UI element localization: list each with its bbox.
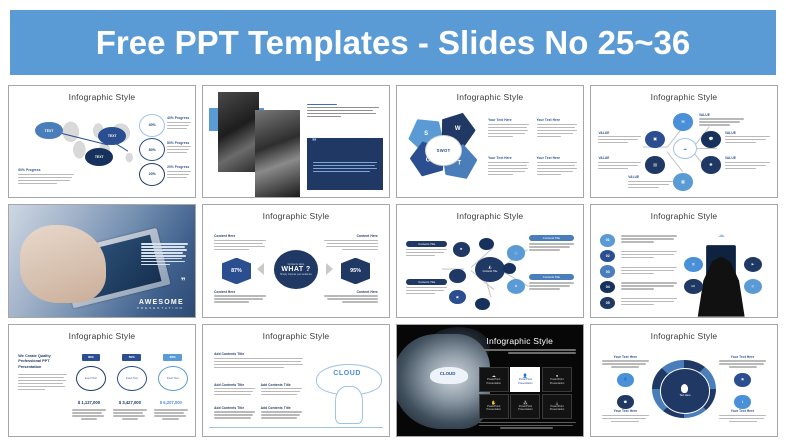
tile-1[interactable]: ☁ PowerPoint Presentation (479, 367, 509, 392)
laptop-hands-photo (218, 92, 259, 172)
text-heading: Your Text Here (537, 156, 578, 160)
node-heading: VALUE (628, 175, 673, 179)
what-text-3: Content Here (214, 290, 266, 304)
slide-9-headline-group: We Create Quality Professional PPT Prese… (18, 354, 66, 392)
slide-9-headline: We Create Quality Professional PPT Prese… (18, 354, 66, 371)
network-node-laptop-icon[interactable]: ▣ (449, 290, 466, 304)
network-node-dot[interactable] (479, 238, 494, 250)
list-text-5 (621, 298, 677, 307)
bubble-hd-icon[interactable]: HD (684, 279, 703, 295)
slide-11-footer (479, 422, 576, 431)
gauge-1: Insert Text (76, 366, 106, 391)
network-node-gear-icon[interactable]: ⚙ (507, 279, 526, 295)
node-text-3: VALUE (725, 131, 770, 145)
slide-thumbnail-2[interactable]: ❝ (202, 85, 390, 198)
slide-thumbnail-12[interactable]: Infographic Style Text Here 👤 💬 ▣ ℹ Your… (590, 324, 778, 437)
tile-2-active[interactable]: 👤 PowerPoint Presentation (510, 367, 540, 392)
gauge-2: Insert Text (117, 366, 147, 391)
text-heading: Your Text Here (488, 118, 529, 122)
slide-1-title: Infographic Style (9, 92, 195, 102)
list-text-3 (621, 267, 677, 276)
badge-value: 87% (231, 268, 242, 274)
progress-heading: 80% Progress (167, 141, 191, 145)
quote-box: ❝ (307, 138, 383, 189)
node-text-2: VALUE (598, 156, 641, 170)
badge-value: 95% (350, 268, 361, 274)
what-eyebrow: Contents Here (288, 263, 305, 266)
hand-pointer-icon[interactable] (335, 386, 363, 424)
banner-title: Free PPT Templates - Slides No 25~36 (96, 24, 691, 62)
gauge-label: Insert Text (126, 377, 138, 380)
node-monitor-icon[interactable]: ▣ (645, 131, 665, 149)
node-chat-icon[interactable]: 💬 (701, 131, 721, 149)
list-number-05: 05 (600, 297, 615, 309)
list-number-01: 01 (600, 234, 615, 246)
gear-text-1: Your Text Here (602, 355, 649, 369)
lead-heading: Add Contents Title (214, 352, 303, 356)
network-node-settings-icon[interactable]: ✺ (453, 242, 470, 256)
map-pin-2[interactable]: TEXT (98, 127, 126, 145)
node-lock-icon[interactable]: ▦ (673, 173, 693, 191)
pill-label: Contents Title (406, 241, 447, 247)
slide-11-title: Infographic Style (462, 336, 577, 346)
icon-info[interactable]: ℹ (734, 395, 751, 409)
progress-donut-1: 40% (139, 114, 165, 137)
list-text-2 (621, 251, 677, 260)
what-sub: Simply impress your audience (280, 273, 312, 276)
slide-10-title: Infographic Style (203, 331, 389, 341)
text-heading: Your Text Here (602, 355, 649, 359)
progress-text-3: 20% Progress (167, 165, 191, 179)
slide-thumbnail-10[interactable]: Infographic Style Add Contents Title Add… (202, 324, 390, 437)
bubble-camera-icon[interactable]: ◎ (744, 279, 763, 295)
pill-label: Contents Title (406, 279, 447, 285)
node-laptop-icon[interactable]: ▤ (645, 156, 665, 174)
slide-thumbnail-1[interactable]: Infographic Style TEXT TEXT TEXT 40% 80%… (8, 85, 196, 198)
cloud-upload-icon: ☁ (673, 138, 697, 159)
badge-95: 95% (341, 258, 371, 285)
node-heading: VALUE (699, 113, 744, 117)
node-heading: VALUE (598, 156, 641, 160)
smartphone-hands-photo (255, 110, 300, 197)
slide-11-subtitle (479, 349, 576, 355)
network-label-4: Contents Title (529, 274, 574, 291)
map-pin-label: TEXT (108, 134, 117, 138)
gear-text-2: Your Text Here (719, 355, 766, 369)
network-label-1: Contents Title (406, 241, 447, 258)
tile-4[interactable]: ✋ PowerPoint Presentation (479, 394, 509, 419)
swot-letter: W (455, 125, 461, 131)
bubble-image-icon[interactable]: ▥ (684, 257, 703, 273)
cloud-icon: ◭ (488, 265, 491, 269)
amount-1: $ 1,127,000 (67, 400, 112, 405)
amount-2: $ 3,427,000 (108, 400, 153, 405)
tile-label: PowerPoint Presentation (480, 378, 508, 384)
progress-donut-2: 80% (139, 138, 165, 161)
gear-text-4: Your Text Here (719, 409, 766, 423)
text-heading: Your Text Here (488, 156, 529, 160)
amount-3: $ 6,207,000 (149, 400, 194, 405)
slide-3-title: Infographic Style (397, 92, 583, 102)
block-heading: Add Contents Title (261, 383, 302, 387)
network-node-dot[interactable] (503, 263, 516, 274)
tile-label: PowerPoint Presentation (543, 378, 571, 384)
node-heading: VALUE (598, 131, 641, 135)
baseline-rule (209, 427, 384, 428)
slide-thumbnail-5[interactable]: ❞ AWESOME PRESENTATION (8, 204, 196, 317)
slide-12-title: Infographic Style (591, 331, 777, 341)
node-text-4: VALUE (725, 156, 770, 170)
text-heading: Content Here (324, 290, 378, 294)
slide-8-title: Infographic Style (591, 211, 777, 221)
slide-9-title: Infographic Style (9, 331, 195, 341)
network-label-2: Contents Title (406, 279, 447, 296)
node-text-5: VALUE (699, 113, 744, 127)
block-heading: Add Contents Title (261, 406, 302, 410)
network-node-monitor-icon[interactable]: ▢ (507, 245, 526, 261)
block-heading: Add Contents Title (214, 383, 255, 387)
swot-text-2: Your Text Here (537, 118, 578, 138)
what-text-2: Content Here (324, 234, 378, 251)
slide-thumbnail-11[interactable]: Infographic Style CLOUD ☁ PowerPoint Pre… (396, 324, 584, 437)
tile-6[interactable]: ⤓ PowerPoint Presentation (542, 394, 572, 419)
cloud-download-icon: ☁ (710, 228, 732, 244)
network-node-dot[interactable] (475, 298, 490, 310)
tile-5[interactable]: ⁂ PowerPoint Presentation (510, 394, 540, 419)
swot-letter: T (457, 161, 461, 167)
slide-10-lead: Add Contents Title (214, 352, 303, 369)
tile-3[interactable]: ● PowerPoint Presentation (542, 367, 572, 392)
list-text-1 (621, 235, 677, 244)
swot-text-4: Your Text Here (537, 156, 578, 176)
gauge-tag-1: 30% (82, 354, 101, 362)
slide-10-block-1: Add Contents Title (214, 383, 255, 397)
what-text-4: Content Here (324, 290, 378, 304)
icon-user[interactable]: 👤 (617, 373, 634, 387)
slide-6-title: Infographic Style (203, 211, 389, 221)
bubble-video-icon[interactable]: ▶ (744, 257, 763, 273)
tile-label: PowerPoint Presentation (543, 405, 571, 411)
footer-heading: 60% Progress (18, 168, 74, 172)
what-headline: WHAT ? (281, 266, 310, 273)
text-heading: Content Here (214, 290, 266, 294)
text-heading: Content Here (324, 234, 378, 238)
badge-87: 87% (222, 258, 252, 285)
slide-thumbnail-8[interactable]: Infographic Style 01 02 03 04 05 ☁ ▥ HD … (590, 204, 778, 317)
tile-label: PowerPoint Presentation (511, 405, 539, 411)
progress-text-2: 80% Progress (167, 141, 191, 155)
list-text-4 (621, 282, 677, 291)
text-heading: Your Text Here (719, 409, 766, 413)
slide-5-body-text (141, 243, 188, 267)
slide-1-footer-text: 60% Progress (18, 168, 74, 185)
slide-thumbnail-9[interactable]: Infographic Style We Create Quality Prof… (8, 324, 196, 437)
amount-text-1 (72, 409, 105, 421)
what-circle: Contents Here WHAT ? Simply impress your… (274, 250, 319, 289)
map-pin-label: TEXT (95, 155, 104, 159)
awesome-heading-group: AWESOME PRESENTATION (137, 299, 184, 310)
quote-mark-icon: ❝ (312, 139, 317, 144)
gear-center: Text Here (660, 368, 710, 413)
text-heading: Your Text Here (719, 355, 766, 359)
node-settings-icon[interactable]: ✺ (701, 156, 721, 174)
swot-center-label: SWOT (425, 135, 462, 166)
progress-text-1: 40% Progress (167, 116, 191, 130)
cloud-label: CLOUD (440, 371, 456, 376)
gauge-tag-3: 80% (163, 354, 182, 362)
text-heading: Content Here (214, 234, 266, 238)
icon-monitor[interactable]: ▣ (734, 373, 751, 387)
center-label: Contents Title (483, 270, 498, 273)
slide-2-body-text (307, 104, 381, 119)
block-heading: Add Contents Title (214, 406, 255, 410)
tile-label: PowerPoint Presentation (511, 378, 539, 384)
text-heading: Your Text Here (537, 118, 578, 122)
network-node-plain[interactable] (449, 269, 466, 283)
slide-10-block-3: Add Contents Title (214, 406, 255, 420)
amount-text-2 (113, 409, 146, 421)
node-text-6: VALUE (628, 175, 673, 189)
awesome-subheadline: PRESENTATION (137, 306, 184, 310)
slide-4-title: Infographic Style (591, 92, 777, 102)
list-number-02: 02 (600, 250, 615, 262)
pill-label: Contents Title (529, 274, 574, 280)
gauge-tag-2: 50% (122, 354, 141, 362)
head-silhouette-icon (681, 384, 688, 393)
slide-thumbnail-3[interactable]: Infographic Style S W O T SWOT Your Text… (396, 85, 584, 198)
slide-7-title: Infographic Style (397, 211, 583, 221)
tile-label: PowerPoint Presentation (480, 405, 508, 411)
icon-chat[interactable]: 💬 (617, 395, 634, 409)
cloud-label: CLOUD (333, 370, 361, 377)
gauge-3: Insert Text (158, 366, 188, 391)
gauge-label: Insert Text (85, 377, 97, 380)
slide-grid: Infographic Style TEXT TEXT TEXT 40% 80%… (8, 85, 778, 437)
list-number-04: 04 (600, 281, 615, 293)
swot-letter: S (424, 131, 428, 137)
progress-heading: 20% Progress (167, 165, 191, 169)
network-center-node[interactable]: ◭ Contents Title (475, 257, 505, 283)
slide-10-block-4: Add Contents Title (261, 406, 302, 420)
gauge-label: Insert Text (167, 377, 179, 380)
list-number-03: 03 (600, 265, 615, 277)
pill-label: Contents Title (529, 235, 574, 241)
node-heading: VALUE (725, 156, 770, 160)
swot-text-3: Your Text Here (488, 156, 529, 176)
arrow-right-icon (326, 263, 333, 275)
awesome-headline: AWESOME (137, 299, 184, 306)
arrow-left-icon (257, 263, 264, 275)
gear-center-label: Text Here (679, 394, 690, 397)
progress-value: 40% (149, 123, 156, 127)
gear-text-3: Your Text Here (602, 409, 649, 423)
quote-mark-icon: ❞ (181, 279, 186, 284)
node-mail-icon[interactable]: ✉ (673, 113, 693, 131)
preview-page: Free PPT Templates - Slides No 25~36 Inf… (0, 0, 786, 445)
node-heading: VALUE (725, 131, 770, 135)
progress-heading: 40% Progress (167, 116, 191, 120)
progress-value: 80% (149, 148, 156, 152)
slide-thumbnail-7[interactable]: Infographic Style ◭ Contents Title ✺ ▣ ▢… (396, 204, 584, 317)
text-heading: Your Text Here (602, 409, 649, 413)
swot-text-1: Your Text Here (488, 118, 529, 138)
network-label-3: Contents Title (529, 235, 574, 252)
map-pin-label: TEXT (45, 129, 54, 133)
what-text-1: Content Here (214, 234, 266, 251)
slide-10-block-2: Add Contents Title (261, 383, 302, 397)
slide-thumbnail-6[interactable]: Infographic Style 87% 95% Contents Here … (202, 204, 390, 317)
progress-donut-3: 20% (139, 163, 165, 186)
progress-value: 20% (149, 172, 156, 176)
amount-text-3 (154, 409, 187, 421)
node-text-1: VALUE (598, 131, 641, 145)
slide-thumbnail-4[interactable]: Infographic Style ☁ ✉ ▣ ▤ 💬 ✺ ▦ VALUE VA… (590, 85, 778, 198)
header-banner: Free PPT Templates - Slides No 25~36 (10, 10, 776, 75)
